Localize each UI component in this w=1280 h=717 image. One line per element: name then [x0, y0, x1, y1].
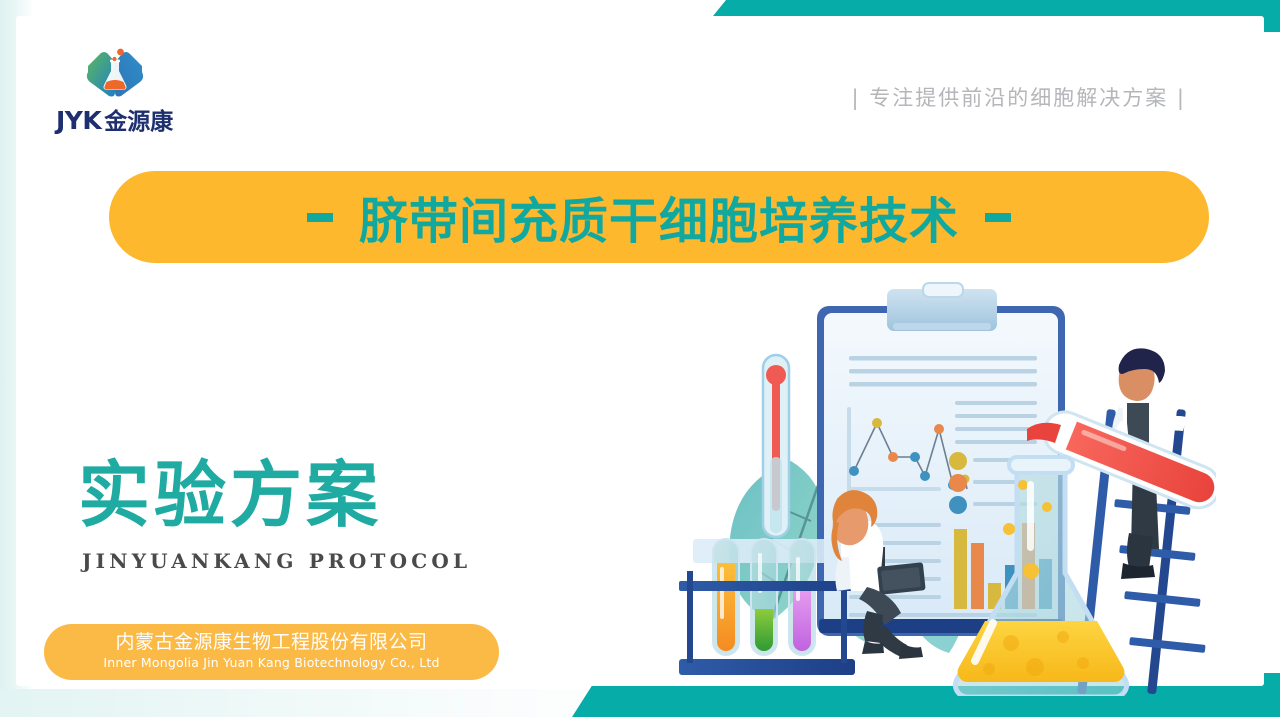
- slide-root: JYK金源康 | 专注提供前沿的细胞解决方案 | 脐带间充质干细胞培养技术 实验…: [0, 0, 1280, 717]
- banner-dash-right-icon: [985, 213, 1011, 222]
- thermometer: [763, 355, 789, 537]
- title-banner: 脐带间充质干细胞培养技术: [109, 171, 1209, 263]
- header-tagline: | 专注提供前沿的细胞解决方案 |: [852, 82, 1187, 112]
- tube-green: [751, 539, 777, 655]
- page-subtitle: JINYUANKANG PROTOCOL: [82, 549, 471, 573]
- company-name-en: Inner Mongolia Jin Yuan Kang Biotechnolo…: [103, 655, 439, 671]
- brand-logo-latin: JYK: [56, 106, 101, 135]
- brand-logo-cn: 金源康: [104, 109, 173, 135]
- tube-orange: [713, 539, 739, 655]
- company-name-cn: 内蒙古金源康生物工程股份有限公司: [115, 632, 427, 654]
- tube-purple: [789, 539, 815, 655]
- laboratory-research-illustration: [671, 271, 1216, 696]
- page-title: 实验方案: [78, 459, 382, 531]
- brand-logo-text: JYK金源康: [56, 102, 236, 136]
- slide-card: JYK金源康 | 专注提供前沿的细胞解决方案 | 脐带间充质干细胞培养技术 实验…: [16, 16, 1264, 686]
- company-badge: 内蒙古金源康生物工程股份有限公司 Inner Mongolia Jin Yuan…: [44, 624, 499, 680]
- banner-title: 脐带间充质干细胞培养技术: [359, 182, 959, 253]
- brand-logo[interactable]: JYK金源康: [56, 46, 236, 138]
- bottom-edge-gradient: [0, 689, 640, 717]
- banner-dash-left-icon: [307, 213, 333, 222]
- jyk-flask-logo-icon: [84, 46, 146, 102]
